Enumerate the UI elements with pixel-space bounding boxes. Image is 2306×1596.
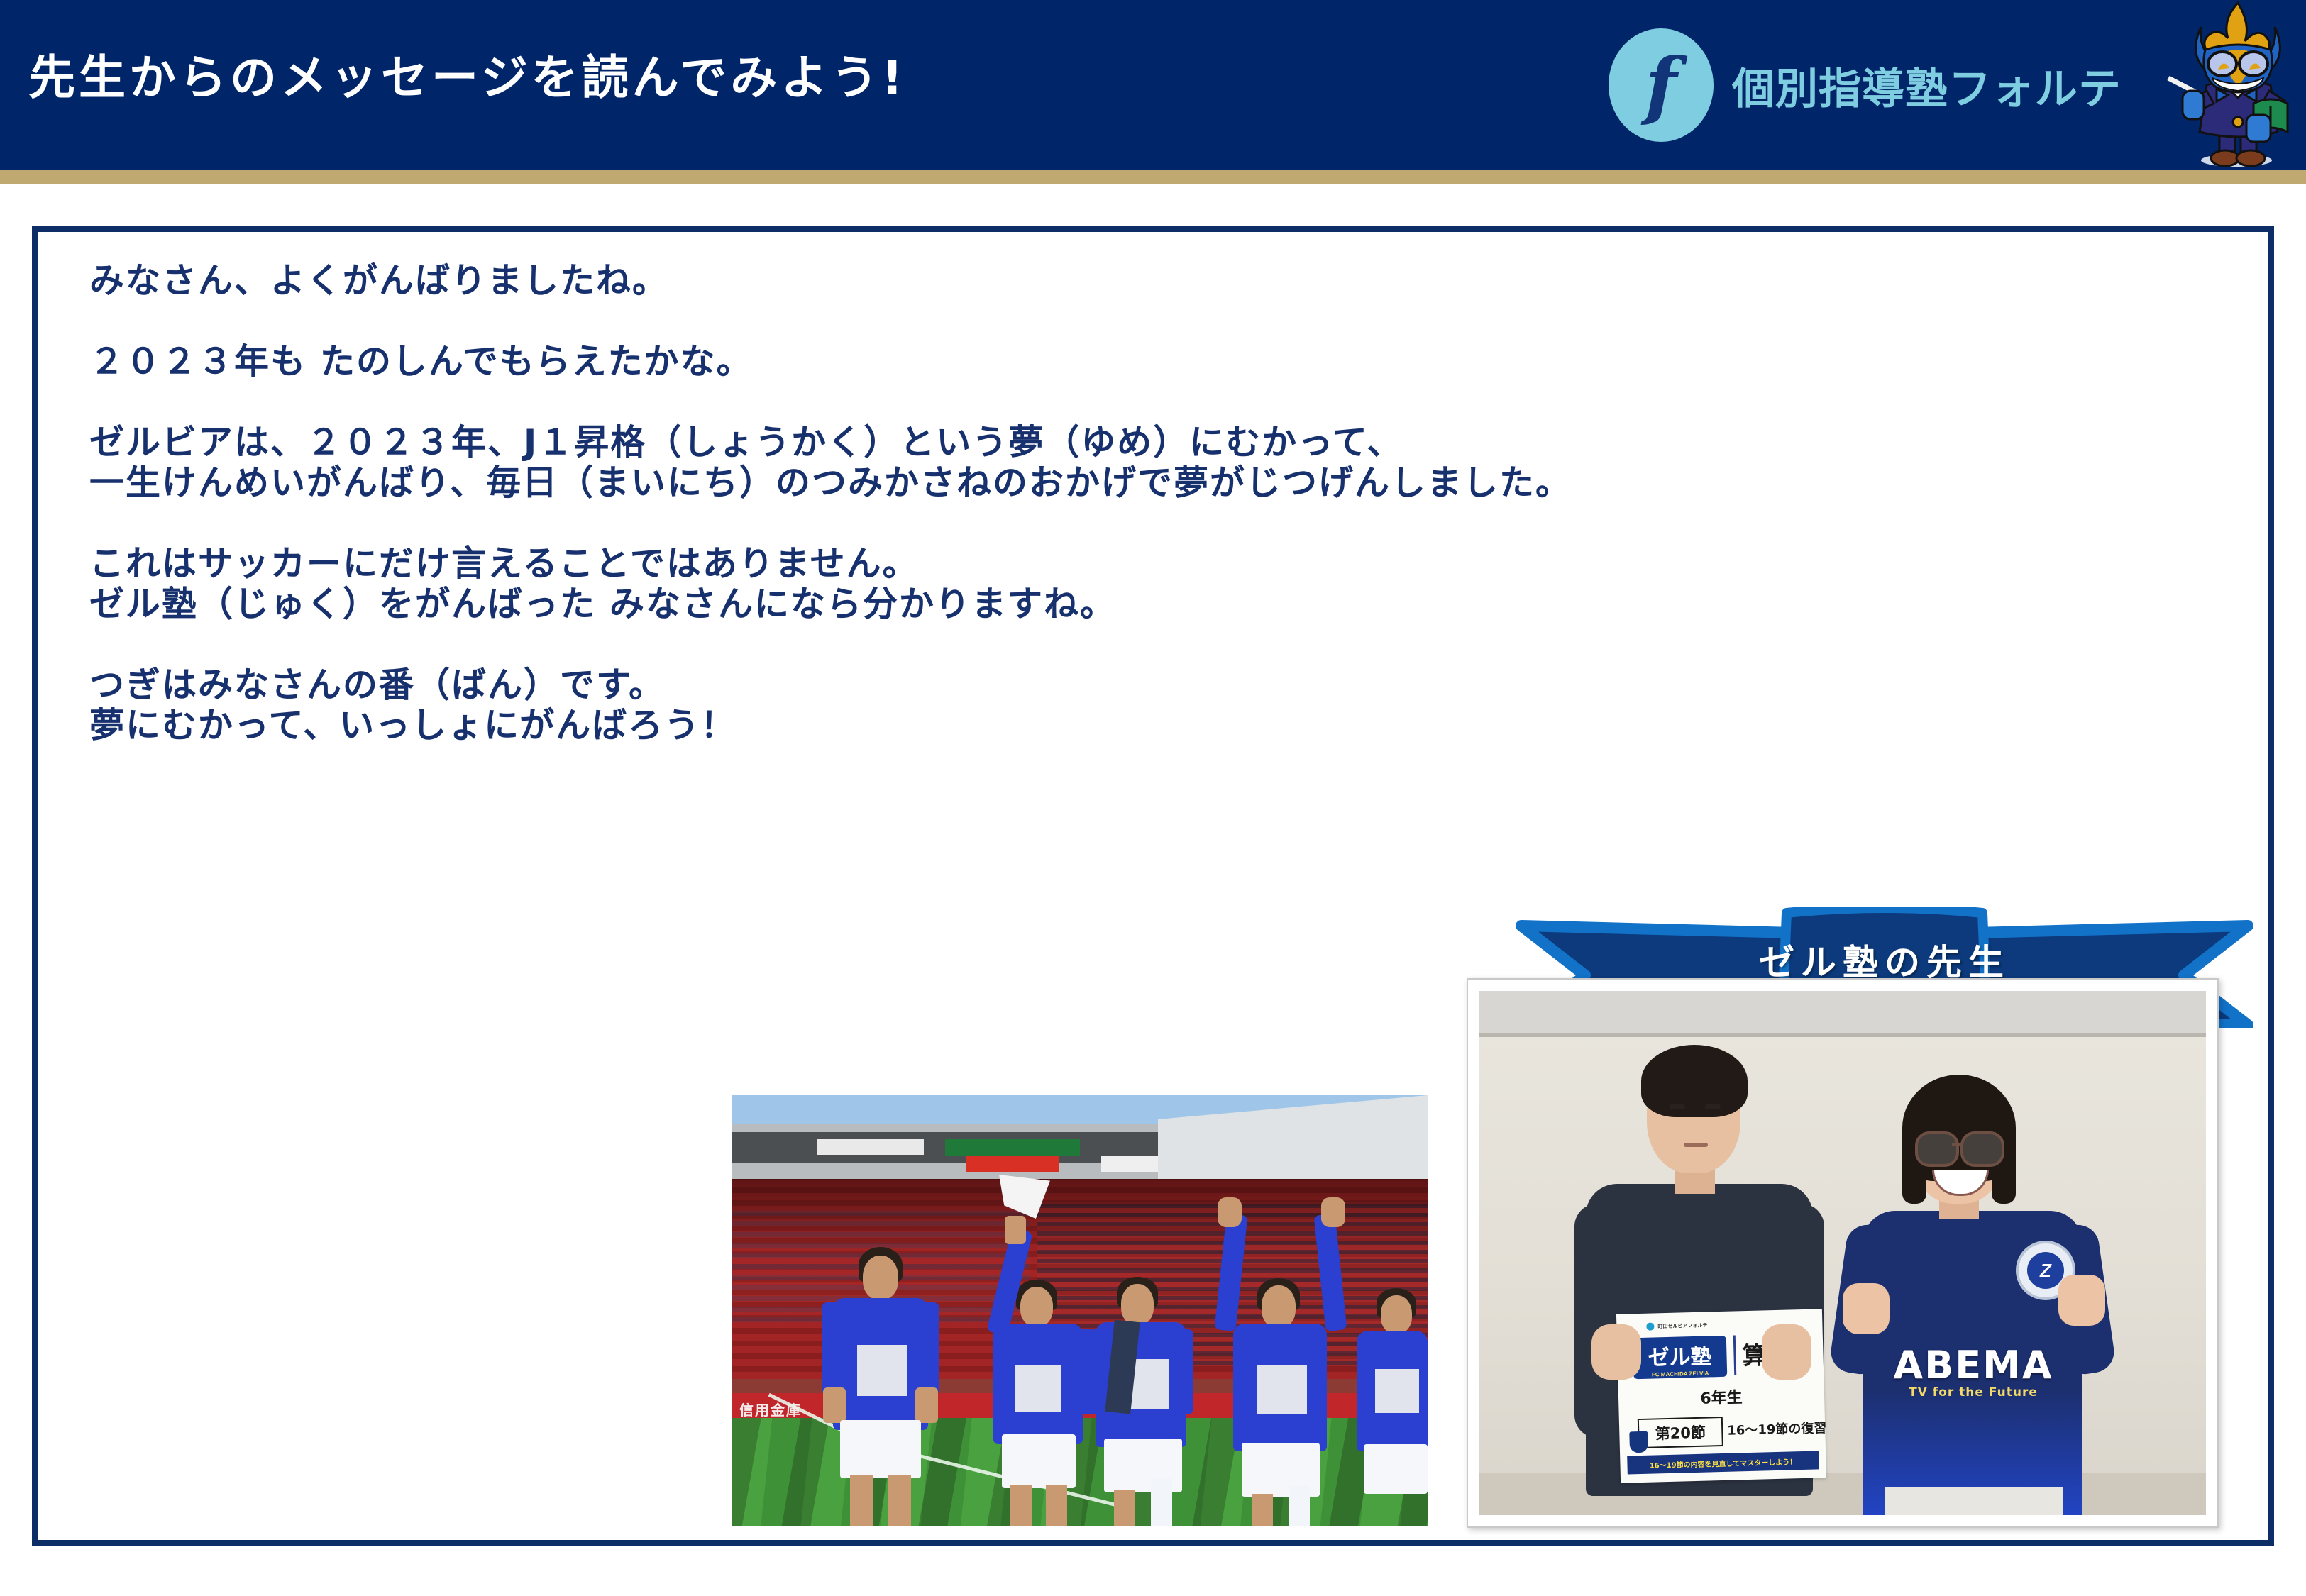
- worksheet-brand-dot-icon: [1646, 1322, 1654, 1330]
- page-header: 先生からのメッセージを読んでみよう! f 個別指導塾フォルテ: [0, 0, 2306, 170]
- jersey-sponsor: ABEMA: [1868, 1343, 2078, 1387]
- club-crest-letter: Z: [2027, 1252, 2064, 1289]
- worksheet-logo-sub: FC MACHIDA ZELVIA: [1633, 1368, 1727, 1379]
- message-line: 一生けんめいがんばり、毎日（まいにち）のつみかさねのおかげで夢がじつげんしました…: [89, 465, 1572, 506]
- message-line: みなさん、よくがんばりましたね。: [89, 263, 1572, 304]
- eyeglasses-icon: [1960, 1131, 2004, 1167]
- worksheet-brand-small: 町田ゼルビアフォルテ: [1657, 1321, 1707, 1330]
- forte-mascot-icon: [2163, 1, 2305, 169]
- message-line: ゼルビアは、２０２３年、J１昇格（しょうかく）という夢（ゆめ）にむかって、: [89, 425, 1572, 465]
- message-line: [89, 304, 1572, 344]
- teacher-photo-frame: 町田ゼルビアフォルテ ゼル塾 FC MACHIDA ZELVIA 算数 6年生 …: [1467, 978, 2219, 1528]
- gold-divider: [0, 170, 2306, 184]
- teacher-message: みなさん、よくがんばりましたね。 ２０２３年も たのしんでもらえたかな。 ゼルビ…: [89, 263, 1572, 748]
- message-line: ２０２３年も たのしんでもらえたかな。: [89, 344, 1572, 384]
- forte-f-logo-icon: f: [1609, 28, 1714, 142]
- message-line: 夢にむかって、いっしょにがんばろう！: [89, 708, 1572, 748]
- brand-name: 個別指導塾フォルテ: [1732, 55, 2122, 116]
- message-line: つぎはみなさんの番（ばん）です。: [89, 667, 1572, 708]
- message-line: [89, 627, 1572, 667]
- teacher-photo: 町田ゼルビアフォルテ ゼル塾 FC MACHIDA ZELVIA 算数 6年生 …: [1479, 991, 2206, 1515]
- eyeglasses-icon: [1915, 1131, 1959, 1167]
- jersey-sponsor-tagline: TV for the Future: [1868, 1385, 2078, 1400]
- worksheet-review: 16〜19節の復習: [1727, 1418, 1827, 1439]
- message-line: これはサッカーにだけ言えることではありません。: [89, 546, 1572, 587]
- worksheet-footer: 16〜19節の内容を見直してマスターしよう！: [1650, 1456, 1797, 1470]
- brand-lockup: f 個別指導塾フォルテ: [1609, 28, 2122, 142]
- message-card: みなさん、よくがんばりましたね。 ２０２３年も たのしんでもらえたかな。 ゼルビ…: [32, 226, 2274, 1546]
- message-line: [89, 384, 1572, 425]
- brand-mark-letter: f: [1609, 28, 1714, 142]
- message-line: [89, 506, 1572, 546]
- stadium-board-text: 信用金庫: [739, 1399, 802, 1419]
- worksheet-grade: 6年生: [1618, 1382, 1825, 1411]
- page-title: 先生からのメッセージを読んでみよう!: [28, 40, 906, 108]
- soccer-celebration-photo: 信用金庫: [732, 1095, 1428, 1526]
- message-line: ゼル塾（じゅく）をがんばった みなさんになら分かりますね。: [89, 587, 1572, 627]
- worksheet-emblem-icon: [1629, 1431, 1648, 1453]
- worksheet-chapter: 第20節: [1638, 1417, 1723, 1448]
